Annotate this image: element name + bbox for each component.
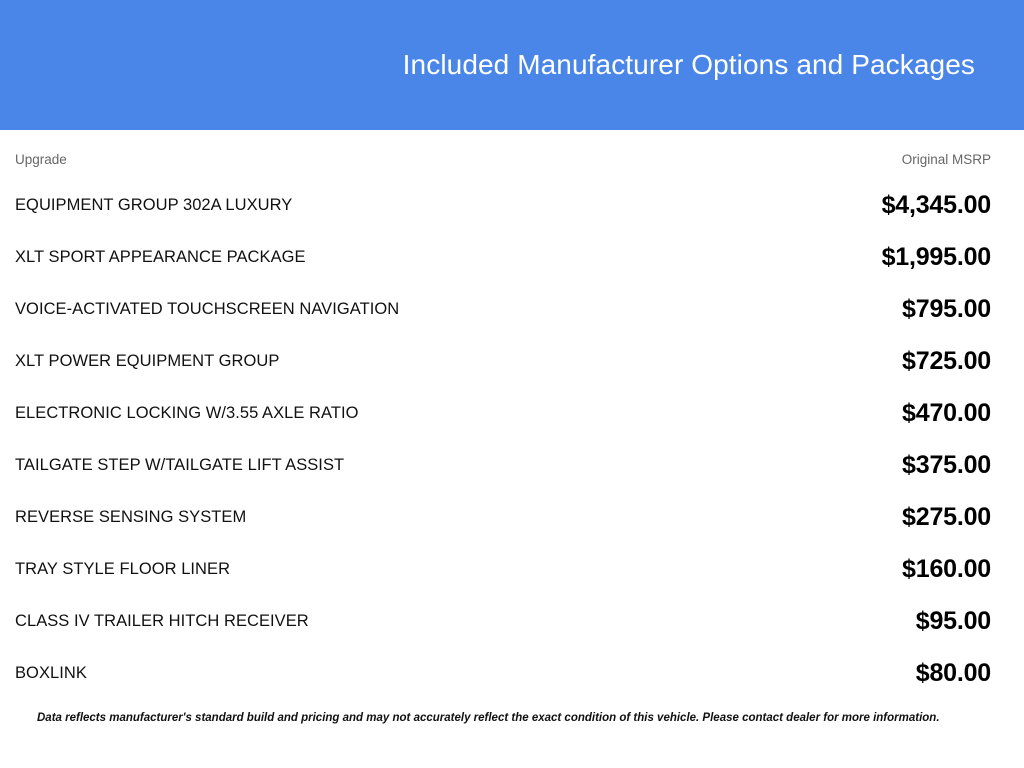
page-header-banner: Included Manufacturer Options and Packag… <box>0 0 1024 130</box>
option-name: BOXLINK <box>15 647 698 699</box>
table-row: VOICE-ACTIVATED TOUCHSCREEN NAVIGATION $… <box>15 283 991 335</box>
option-msrp: $470.00 <box>698 387 991 439</box>
option-msrp: $725.00 <box>698 335 991 387</box>
option-name: ELECTRONIC LOCKING W/3.55 AXLE RATIO <box>15 387 698 439</box>
table-row: EQUIPMENT GROUP 302A LUXURY $4,345.00 <box>15 179 991 231</box>
option-msrp: $160.00 <box>698 543 991 595</box>
table-row: TAILGATE STEP W/TAILGATE LIFT ASSIST $37… <box>15 439 991 491</box>
options-table-container: Upgrade Original MSRP EQUIPMENT GROUP 30… <box>0 130 1024 747</box>
option-msrp: $4,345.00 <box>698 179 991 231</box>
table-row: ELECTRONIC LOCKING W/3.55 AXLE RATIO $47… <box>15 387 991 439</box>
page-title: Included Manufacturer Options and Packag… <box>403 48 975 82</box>
options-packages-page: Included Manufacturer Options and Packag… <box>0 0 1024 768</box>
option-msrp: $275.00 <box>698 491 991 543</box>
column-header-upgrade: Upgrade <box>15 130 698 179</box>
option-name: TAILGATE STEP W/TAILGATE LIFT ASSIST <box>15 439 698 491</box>
disclaimer-text: Data reflects manufacturer's standard bu… <box>37 711 958 726</box>
option-name: EQUIPMENT GROUP 302A LUXURY <box>15 179 698 231</box>
table-row: CLASS IV TRAILER HITCH RECEIVER $95.00 <box>15 595 991 647</box>
disclaimer-container: Data reflects manufacturer's standard bu… <box>15 699 991 726</box>
page-bottom-spacer <box>0 747 1024 768</box>
column-header-original-msrp: Original MSRP <box>698 130 991 179</box>
option-msrp: $80.00 <box>698 647 991 699</box>
table-row: TRAY STYLE FLOOR LINER $160.00 <box>15 543 991 595</box>
option-name: REVERSE SENSING SYSTEM <box>15 491 698 543</box>
option-name: TRAY STYLE FLOOR LINER <box>15 543 698 595</box>
table-row: REVERSE SENSING SYSTEM $275.00 <box>15 491 991 543</box>
table-header-row: Upgrade Original MSRP <box>15 130 991 179</box>
table-body: EQUIPMENT GROUP 302A LUXURY $4,345.00 XL… <box>15 179 991 699</box>
table-row: XLT POWER EQUIPMENT GROUP $725.00 <box>15 335 991 387</box>
included-options-table: Upgrade Original MSRP EQUIPMENT GROUP 30… <box>15 130 991 699</box>
option-name: XLT SPORT APPEARANCE PACKAGE <box>15 231 698 283</box>
option-msrp: $95.00 <box>698 595 991 647</box>
option-msrp: $375.00 <box>698 439 991 491</box>
table-row: BOXLINK $80.00 <box>15 647 991 699</box>
option-msrp: $1,995.00 <box>698 231 991 283</box>
option-msrp: $795.00 <box>698 283 991 335</box>
option-name: CLASS IV TRAILER HITCH RECEIVER <box>15 595 698 647</box>
table-header: Upgrade Original MSRP <box>15 130 991 179</box>
option-name: XLT POWER EQUIPMENT GROUP <box>15 335 698 387</box>
option-name: VOICE-ACTIVATED TOUCHSCREEN NAVIGATION <box>15 283 698 335</box>
table-row: XLT SPORT APPEARANCE PACKAGE $1,995.00 <box>15 231 991 283</box>
